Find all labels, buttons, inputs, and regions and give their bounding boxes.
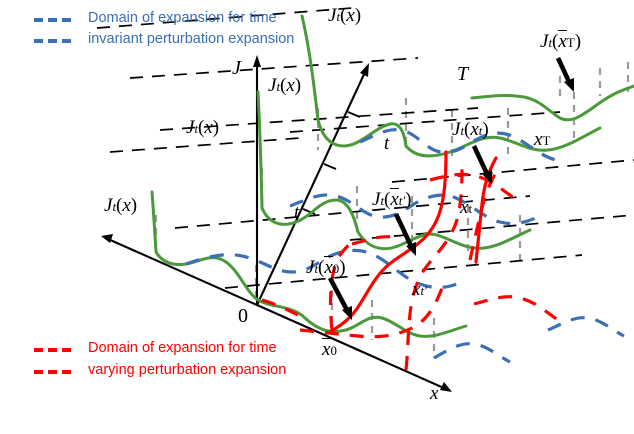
point-label-xbar-0: x0 <box>322 340 337 359</box>
legend-blue-line1: Domain of expansion for time <box>88 8 277 29</box>
axis-label-J: J <box>232 58 241 78</box>
jt-x-upper-arg: x <box>286 75 294 96</box>
x-T-sub: T <box>542 133 550 148</box>
gray-drop-lines <box>156 62 628 358</box>
xbar-t-arg: x <box>460 198 468 217</box>
axis-origin-label: 0 <box>238 306 248 326</box>
point-label-xbar-t: xt <box>460 198 472 217</box>
point-label-x-tp: xt' <box>412 280 427 299</box>
xbar-0-sub: 0 <box>330 343 336 358</box>
annotation-jt-x-t: Jt(xt) <box>452 120 489 139</box>
xbar-0-arg: x <box>322 340 330 359</box>
jt-x-front-arg: x <box>122 195 130 216</box>
legend-red-line2: varying perturbation expansion <box>88 360 286 381</box>
curve-label-jt-x-front: Jt(x) <box>104 196 137 215</box>
legend-red-line1: Domain of expansion for time <box>88 338 277 359</box>
jt-xbar-T-arg: x <box>558 32 566 51</box>
jt-x-t-arg: x <box>470 119 478 140</box>
time-tick-t: t <box>384 134 389 153</box>
time-tick-T: T <box>457 64 468 84</box>
time-tick-t-prime: t' <box>294 203 303 222</box>
legend-blue-line2: invariant perturbation expansion <box>88 29 294 50</box>
curve-label-jt-x-mid: Jt(x) <box>186 118 219 137</box>
annotation-jt-xbar-T: Jt(xT) <box>540 32 581 51</box>
figure-canvas: Domain of expansion for time invariant p… <box>0 0 634 434</box>
annotation-arrows <box>330 58 574 320</box>
axis-label-x: x <box>430 384 438 403</box>
xbar-t-sub: t <box>468 201 472 216</box>
blue-dashed-domain <box>186 130 624 362</box>
curve-label-jt-x-top: Jt(x) <box>328 6 361 25</box>
annotation-jt-xbar-tp: Jt(xt') <box>372 190 411 209</box>
jt-xbar-tp-arg: x <box>390 190 398 209</box>
jt-xbar-T-argsub: T <box>567 35 575 50</box>
point-label-x-T: xT <box>534 130 550 149</box>
jt-xbar-0-arg: x <box>324 258 332 277</box>
curve-label-jt-x-upper: Jt(x) <box>268 76 301 95</box>
jt-x-mid-arg: x <box>204 117 212 138</box>
jt-x-top-arg: x <box>346 5 354 26</box>
annotation-jt-xbar-0: Jt(x0) <box>306 258 346 277</box>
x-tp-sub: t' <box>420 283 426 298</box>
